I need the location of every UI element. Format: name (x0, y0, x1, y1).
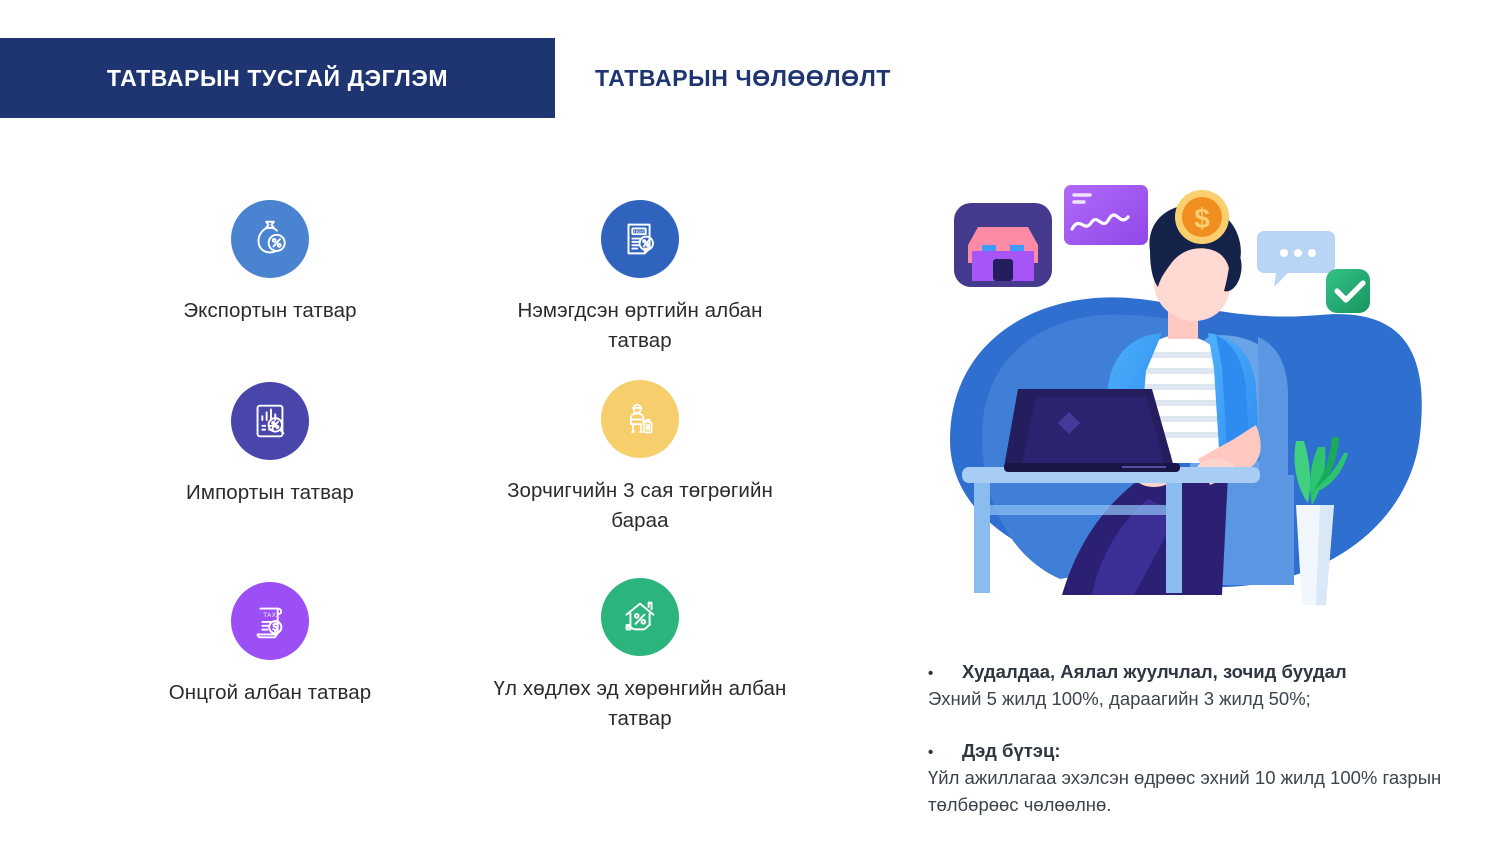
header-banner-label: ТАТВАРЫН ТУСГАЙ ДЭГЛЭМ (107, 65, 448, 92)
grid-item-label: Үл хөдлөх эд хөрөнгийн албан татвар (490, 674, 790, 733)
tax-exemption-notes: • Худалдаа, Аялал жуулчлал, зочид буудал… (928, 660, 1458, 818)
laptop (1004, 389, 1180, 472)
note-body: Эхний 5 жилд 100%, дараагийн 3 жилд 50%; (928, 686, 1458, 713)
grid-item-immovable-property-tax[interactable]: Үл хөдлөх эд хөрөнгийн албан татвар (490, 578, 790, 733)
checkmark-badge-icon (1326, 269, 1370, 313)
svg-text:НӨАТ: НӨАТ (634, 229, 647, 235)
note-body: Үйл ажиллагаа эхэлсэн өдрөөс эхний 10 жи… (928, 765, 1458, 819)
header-banner-tax-special-regime: ТАТВАРЫН ТУСГАЙ ДЭГЛЭМ (0, 38, 555, 118)
grid-item-export-tax[interactable]: Экспортын татвар (120, 200, 420, 326)
report-chart-magnifier-percent-icon (231, 382, 309, 460)
bullet-marker-icon: • (928, 664, 962, 684)
chat-bubble-icon (1257, 231, 1335, 287)
grid-item-import-tax[interactable]: Импортын татвар (120, 382, 420, 508)
dollar-coin-icon: $ (1175, 190, 1229, 244)
grid-item-label: Онцгой албан татвар (120, 678, 420, 708)
grid-item-label: Экспортын татвар (120, 296, 420, 326)
note-heading-row: • Худалдаа, Аялал жуулчлал, зочид буудал (928, 660, 1458, 685)
header-secondary-label: ТАТВАРЫН ЧӨЛӨӨЛӨЛТ (595, 65, 891, 92)
svg-text:TAX: TAX (263, 612, 276, 619)
note-item-infrastructure: • Дэд бүтэц: Үйл ажиллагаа эхэлсэн өдрөө… (928, 739, 1458, 819)
money-bag-percent-icon (231, 200, 309, 278)
note-heading: Худалдаа, Аялал жуулчлал, зочид буудал (962, 660, 1347, 685)
tax-receipt-dollar-icon: TAX (231, 582, 309, 660)
grid-item-label: Импортын татвар (120, 478, 420, 508)
house-percent-hand-icon (601, 578, 679, 656)
note-heading: Дэд бүтэц: (962, 739, 1061, 764)
grid-item-label: Зорчигчийн 3 сая төгрөгийн бараа (490, 476, 790, 535)
man-working-on-laptop-illustration: $ (940, 175, 1430, 635)
grid-item-excise-tax[interactable]: TAX Онцгой албан татвар (120, 582, 420, 708)
shop-storefront-card-icon (954, 203, 1052, 287)
vat-document-percent-icon: НӨАТ (601, 200, 679, 278)
svg-text:$: $ (1194, 203, 1210, 234)
grid-item-passenger-goods[interactable]: Зорчигчийн 3 сая төгрөгийн бараа (490, 380, 790, 535)
chart-card-icon (1064, 185, 1148, 245)
grid-item-vat[interactable]: НӨАТ Нэмэгдсэн өртгийн албан татвар (490, 200, 790, 355)
traveler-luggage-icon (601, 380, 679, 458)
header-secondary-title: ТАТВАРЫН ЧӨЛӨӨЛӨЛТ (595, 38, 891, 118)
note-item-trade-tourism-hotel: • Худалдаа, Аялал жуулчлал, зочид буудал… (928, 660, 1458, 713)
bullet-marker-icon: • (928, 743, 962, 763)
slide-canvas: ТАТВАРЫН ТУСГАЙ ДЭГЛЭМ ТАТВАРЫН ЧӨЛӨӨЛӨЛ… (0, 0, 1500, 844)
note-heading-row: • Дэд бүтэц: (928, 739, 1458, 764)
grid-item-label: Нэмэгдсэн өртгийн албан татвар (490, 296, 790, 355)
